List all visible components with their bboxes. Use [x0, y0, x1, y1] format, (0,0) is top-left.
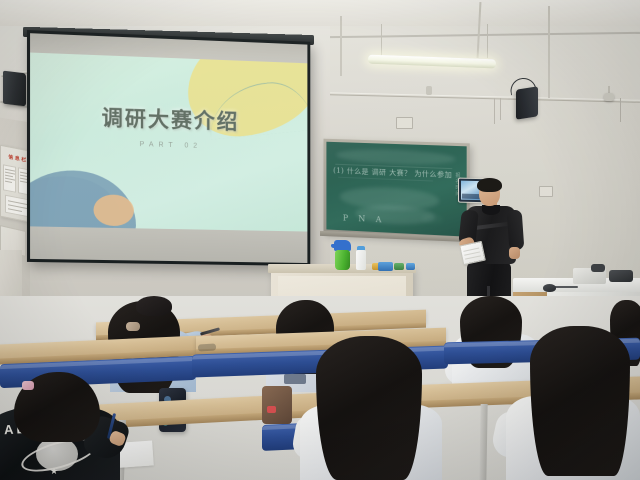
- wall-speaker-right-icon: [516, 86, 538, 119]
- projection-screen[interactable]: 调研大赛介绍 PART 02: [27, 30, 310, 266]
- student-a-hair-clip: [22, 381, 34, 390]
- classroom-photo: 信息栏: [0, 0, 640, 480]
- slide-content: 调研大赛介绍 PART 02: [30, 53, 307, 232]
- student-b-hair-tie: [126, 322, 140, 331]
- spray-bottle[interactable]: [335, 250, 350, 270]
- screen-bottom-margin: [30, 226, 307, 263]
- student-d-hair: [316, 336, 422, 480]
- presenter-collar: [482, 205, 500, 215]
- student-f-hair: [530, 326, 630, 476]
- wall-speaker-left-icon: [3, 71, 26, 107]
- white-bottle[interactable]: [356, 250, 366, 270]
- presenter-right-hand: [509, 247, 520, 259]
- screen-surface: 调研大赛介绍 PART 02: [30, 33, 307, 263]
- presenter-right-arm: [507, 210, 525, 251]
- bag-clip: [267, 406, 276, 413]
- wall-socket: [396, 117, 413, 129]
- marker-green[interactable]: [394, 263, 404, 270]
- student-b-hair-top: [136, 296, 172, 316]
- door-frame: [0, 250, 22, 302]
- conduit-drop: [548, 6, 550, 98]
- slide-subtitle: PART 02: [30, 138, 307, 153]
- conduit-drop: [340, 16, 342, 76]
- ceiling-fixture: [426, 86, 432, 95]
- marker-blue[interactable]: [406, 263, 415, 270]
- blackboard: (1) 什么是 调研 大赛？ 为什么参加 报名时间 P N A: [324, 139, 470, 241]
- slide-orange-circle: [94, 194, 134, 226]
- ceiling: [0, 0, 640, 26]
- notice-sheet: [5, 195, 29, 218]
- ceiling-camera-icon: [604, 93, 614, 101]
- console-monitor[interactable]: [609, 270, 633, 282]
- wall-switch: [539, 186, 553, 197]
- blue-eraser[interactable]: [378, 262, 393, 271]
- desk-item-shadow: [198, 343, 216, 351]
- presenter-hair: [477, 178, 502, 192]
- console-monitor-stand: [591, 264, 605, 272]
- notice-sheet: [3, 164, 16, 193]
- computer-mouse[interactable]: [543, 284, 556, 292]
- student-a-star-icon: ★: [50, 466, 58, 477]
- desk-leg: [479, 404, 487, 480]
- brown-bag[interactable]: [262, 386, 292, 424]
- blackboard-surface: (1) 什么是 调研 大赛？ 为什么参加 报名时间 P N A: [326, 142, 466, 237]
